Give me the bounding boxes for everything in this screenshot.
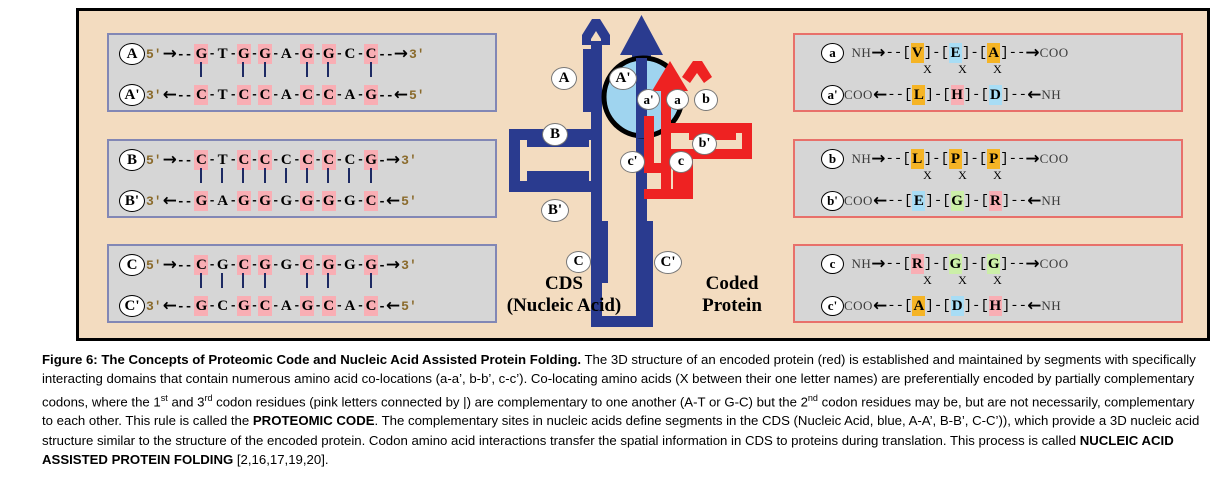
base-letter: C [300, 85, 314, 105]
arrow-left-icon: ← [873, 85, 887, 105]
protein-panel-b: b NH→--[L]-[P]-[P]--→COOXXXb'COO←--[E]-[… [793, 139, 1183, 218]
base-separator: - [336, 88, 343, 102]
leading-dashes: -- [177, 299, 193, 314]
arrow-left-icon: ← [163, 296, 177, 316]
n-terminus-label: NH [1041, 193, 1061, 209]
base-separator: - [336, 47, 343, 61]
bracket-close: ] [1002, 87, 1010, 103]
base-sequence: G-T-G-G-A-G-G-C-C [194, 44, 378, 64]
trailing-dashes: -- [1009, 256, 1026, 272]
bracket-open: [ [902, 256, 910, 272]
residue-letter: L [912, 85, 925, 105]
bond-cell [194, 168, 208, 188]
bond-bar [221, 273, 223, 288]
residue-separator: - [970, 151, 978, 167]
three-prime-label: 3' [401, 153, 417, 168]
residue-sequence: [L]-[H]-[D] [904, 85, 1010, 105]
arrow-right-end-icon: → [394, 44, 408, 64]
nucleic-panel-B: B5'→--C-T-C-C-C-C-C-C-G-→3'--------B'3'←… [107, 139, 497, 218]
bond-cell [364, 168, 378, 188]
bracket-open: [ [980, 298, 988, 314]
diagram-marker-C-prime: C' [654, 251, 682, 274]
bond-bar [242, 62, 244, 77]
base-separator: - [208, 299, 215, 313]
residue-letter: P [987, 149, 1000, 169]
bracket-open: [ [904, 193, 912, 209]
base-separator: - [272, 258, 279, 272]
bracket-close: ] [924, 256, 932, 272]
trailing-dashes: -- [378, 88, 394, 103]
bracket-open: [ [942, 298, 950, 314]
bracket-close: ] [1000, 256, 1008, 272]
bond-cell [300, 168, 314, 188]
base-separator: - [272, 153, 279, 167]
base-separator: - [357, 47, 364, 61]
leading-dashes: -- [886, 45, 903, 61]
base-separator: - [293, 153, 300, 167]
base-separator: - [314, 153, 321, 167]
residue-sequence: [V]-[E]-[A] [902, 43, 1008, 63]
figure-caption: Figure 6: The Concepts of Proteomic Code… [42, 350, 1208, 469]
base-separator: - [251, 88, 258, 102]
base-separator: - [230, 299, 237, 313]
bond-bar [264, 62, 266, 77]
residue-separator: - [972, 193, 980, 209]
residue-sequence: [A]-[D]-[H] [904, 296, 1010, 316]
bond-cell [236, 168, 250, 188]
diagram-marker-C: C [566, 251, 591, 273]
bond-cell [300, 62, 314, 82]
protein-chain-bottom: a'COO←--[L]-[H]-[D]--←NH [795, 82, 1181, 108]
caption-body-6: [2,16,17,19,20]. [233, 452, 328, 467]
base-letter: G [300, 191, 314, 211]
trailing-dashes: -- [378, 47, 394, 62]
protein-caption-line2: Protein [672, 295, 792, 317]
caption-figure-label: Figure 6: The Concepts of Proteomic Code… [42, 352, 581, 367]
arrow-left-end-icon: ← [386, 296, 400, 316]
bracket-close: ] [924, 45, 932, 61]
base-separator: - [251, 153, 258, 167]
chain-label-b: b [821, 149, 844, 169]
cds-caption: CDS (Nucleic Acid) [489, 273, 639, 317]
bond-spacer: - [250, 65, 257, 79]
nucleic-strand-bottom: B'3'←--G-A-G-G-G-G-G-G-C-←5' [109, 188, 495, 214]
n-terminus-label: NH [844, 256, 871, 272]
leading-dashes: -- [886, 151, 903, 167]
bracket-close: ] [924, 151, 932, 167]
base-separator: - [272, 194, 279, 208]
figure-frame: A5'→--G-T-G-G-A-G-G-C-C--→3'--------A'3'… [76, 8, 1210, 341]
base-separator: - [293, 258, 300, 272]
bracket-open: [ [941, 45, 949, 61]
arrow-right-icon: → [163, 150, 177, 170]
base-separator: - [357, 153, 364, 167]
base-separator: - [293, 299, 300, 313]
base-separator: - [336, 153, 343, 167]
co-location-row: XXX [910, 272, 1015, 288]
residue-letter: A [912, 296, 925, 316]
nucleic-strand-bottom: A'3'←--C-T-C-C-A-C-C-A-G--←5' [109, 82, 495, 108]
base-separator: - [336, 194, 343, 208]
trailing-dashes: - [378, 258, 386, 273]
protein-chain-bottom: b'COO←--[E]-[G]-[R]--←NH [795, 188, 1181, 214]
co-location-marker: X [980, 273, 1015, 288]
base-sequence: C-T-C-C-A-C-C-A-G [194, 85, 378, 105]
residue-letter: P [949, 149, 962, 169]
diagram-marker-b-prime: b' [692, 133, 717, 155]
bond-bar [327, 62, 329, 77]
base-separator: - [272, 47, 279, 61]
arrow-right-icon: → [871, 254, 885, 274]
base-separator: - [357, 299, 364, 313]
caption-bold-proteomic-code: PROTEOMIC CODE [253, 413, 375, 428]
c-terminus-label: COO [1040, 151, 1069, 167]
cds-caption-line1: CDS [489, 273, 639, 295]
bond-bar [200, 273, 202, 288]
protein-caption: Coded Protein [672, 273, 792, 317]
trailing-dashes: -- [1009, 45, 1026, 61]
bond-bar [306, 168, 308, 183]
bond-bar [264, 273, 266, 288]
bond-bar [327, 168, 329, 183]
arrow-left-icon: ← [163, 191, 177, 211]
hydrogen-bond-row: -------- [194, 169, 378, 186]
arrow-left-end-icon: ← [386, 191, 400, 211]
bond-cell [258, 168, 272, 188]
bond-cell [194, 273, 208, 293]
bracket-open: [ [979, 256, 987, 272]
bond-cell [279, 168, 293, 188]
residue-separator: - [934, 298, 942, 314]
three-prime-label: 3' [146, 88, 162, 103]
leading-dashes: -- [177, 88, 193, 103]
n-terminus-label: NH [844, 151, 871, 167]
base-separator: - [208, 47, 215, 61]
bond-spacer: - [335, 171, 342, 185]
residue-sequence: [R]-[G]-[G] [902, 254, 1008, 274]
base-separator: - [208, 88, 215, 102]
bond-bar [200, 168, 202, 183]
three-prime-label: 3' [409, 47, 425, 62]
base-letter: C [364, 296, 378, 316]
co-location-marker: X [980, 62, 1015, 77]
co-location-marker: X [945, 62, 980, 77]
base-letter: G [300, 296, 314, 316]
arrow-left-icon: ← [873, 296, 887, 316]
bond-spacer: - [208, 65, 215, 79]
bracket-open: [ [942, 87, 950, 103]
chain-label-c: c [821, 254, 844, 274]
caption-sup-1: st [161, 393, 168, 403]
bond-bar [264, 168, 266, 183]
residue-letter: H [989, 296, 1002, 316]
base-separator: - [314, 47, 321, 61]
bond-spacer: - [293, 171, 300, 185]
strand-label-C-prime: C' [119, 295, 145, 317]
base-separator: - [230, 88, 237, 102]
leading-dashes: -- [177, 153, 193, 168]
bond-cell [236, 62, 250, 82]
residue-letter: D [989, 85, 1002, 105]
n-terminus-label: NH [1041, 298, 1061, 314]
base-separator: - [208, 194, 215, 208]
five-prime-label: 5' [146, 153, 162, 168]
nucleic-panel-C: C5'→--C-G-C-G-G-C-G-G-G-→3'--------C'3'←… [107, 244, 497, 323]
residue-letter: G [949, 254, 962, 274]
hydrogen-bond-row: -------- [194, 63, 378, 80]
base-separator: - [293, 47, 300, 61]
protein-caption-line1: Coded [672, 273, 792, 295]
protein-panel-c: c NH→--[R]-[G]-[G]--→COOXXXc'COO←--[A]-[… [793, 244, 1183, 323]
trailing-dashes: -- [1010, 193, 1027, 209]
base-letter: C [216, 296, 230, 316]
base-letter: T [216, 44, 230, 64]
residue-separator: - [934, 87, 942, 103]
bond-bar [242, 168, 244, 183]
base-letter: A [279, 44, 293, 64]
base-letter: G [279, 255, 293, 275]
bond-bar [221, 168, 223, 183]
strand-label-A-prime: A' [119, 84, 145, 106]
bracket-open: [ [904, 298, 912, 314]
arrow-right-end-icon: → [1025, 149, 1039, 169]
bond-spacer: - [250, 171, 257, 185]
bracket-open: [ [980, 193, 988, 209]
bond-spacer: - [356, 276, 363, 290]
bracket-close: ] [962, 256, 970, 272]
c-terminus-label: COO [844, 298, 873, 314]
chain-label-c-prime: c' [821, 296, 844, 316]
protein-panel-a: a NH→--[V]-[E]-[A]--→COOXXXa'COO←--[L]-[… [793, 33, 1183, 112]
base-letter: G [194, 296, 208, 316]
base-separator: - [314, 194, 321, 208]
base-sequence: G-C-G-C-A-G-C-A-C [194, 296, 378, 316]
diagram-marker-a: a [666, 89, 689, 110]
caption-sup-3: nd [808, 393, 818, 403]
base-letter: C [322, 85, 336, 105]
three-prime-label: 3' [146, 299, 162, 314]
three-prime-label: 3' [146, 194, 162, 209]
base-letter: G [279, 191, 293, 211]
bracket-close: ] [964, 298, 972, 314]
bracket-close: ] [1000, 151, 1008, 167]
leading-dashes: -- [886, 256, 903, 272]
bond-spacer: - [229, 65, 236, 79]
co-location-marker: X [945, 273, 980, 288]
trailing-dashes: -- [1010, 298, 1027, 314]
base-letter: A [216, 191, 230, 211]
base-separator: - [314, 299, 321, 313]
bond-cell [236, 273, 250, 293]
base-separator: - [357, 88, 364, 102]
caption-body-3: codon residues (pink letters connected b… [212, 394, 807, 409]
residue-letter: A [987, 43, 1000, 63]
bracket-close: ] [962, 45, 970, 61]
arrow-left-end-icon: ← [1027, 191, 1041, 211]
bond-cell [300, 273, 314, 293]
bond-spacer: - [229, 276, 236, 290]
nucleic-panel-A: A5'→--G-T-G-G-A-G-G-C-C--→3'--------A'3'… [107, 33, 497, 112]
base-letter: C [258, 85, 272, 105]
leading-dashes: -- [177, 47, 193, 62]
strand-label-B-prime: B' [119, 190, 145, 212]
base-letter: G [343, 191, 357, 211]
bracket-open: [ [941, 151, 949, 167]
bond-spacer: - [314, 171, 321, 185]
five-prime-label: 5' [409, 88, 425, 103]
residue-separator: - [970, 256, 978, 272]
leading-dashes: -- [887, 87, 904, 103]
base-letter: G [194, 191, 208, 211]
bond-cell [364, 273, 378, 293]
co-location-marker: X [945, 168, 980, 183]
arrow-right-icon: → [871, 149, 885, 169]
bond-bar [370, 62, 372, 77]
base-letter: C [258, 296, 272, 316]
arrow-left-icon: ← [163, 85, 177, 105]
n-terminus-label: NH [1041, 87, 1061, 103]
trailing-dashes: - [378, 299, 386, 314]
leading-dashes: -- [177, 194, 193, 209]
bond-bar [348, 168, 350, 183]
arrow-right-icon: → [163, 255, 177, 275]
residue-letter: R [989, 191, 1002, 211]
arrow-right-end-icon: → [1025, 43, 1039, 63]
bracket-close: ] [962, 151, 970, 167]
five-prime-label: 5' [146, 47, 162, 62]
residue-letter: V [911, 43, 924, 63]
bond-spacer: - [272, 171, 279, 185]
residue-letter: D [951, 296, 964, 316]
arrow-right-end-icon: → [386, 255, 400, 275]
bond-spacer: - [208, 171, 215, 185]
base-letter: A [279, 85, 293, 105]
base-letter: C [343, 44, 357, 64]
arrow-left-end-icon: ← [1027, 85, 1041, 105]
chain-label-b-prime: b' [821, 191, 844, 211]
co-location-row: XXX [910, 61, 1015, 77]
bracket-close: ] [925, 193, 933, 209]
bond-spacer: - [314, 276, 321, 290]
base-letter: G [237, 191, 251, 211]
bond-bar [370, 273, 372, 288]
base-letter: G [364, 85, 378, 105]
diagram-marker-A-prime: A' [609, 67, 637, 90]
bond-cell [215, 273, 229, 293]
base-separator: - [293, 194, 300, 208]
arrow-right-end-icon: → [1025, 254, 1039, 274]
co-location-marker: X [910, 273, 945, 288]
bond-bar [285, 168, 287, 183]
bond-spacer: - [356, 171, 363, 185]
base-letter: C [322, 296, 336, 316]
base-separator: - [272, 299, 279, 313]
bracket-close: ] [964, 87, 972, 103]
hydrogen-bond-row: -------- [194, 274, 378, 291]
arrow-right-icon: → [163, 44, 177, 64]
residue-sequence: [L]-[P]-[P] [902, 149, 1008, 169]
bracket-open: [ [980, 87, 988, 103]
base-separator: - [230, 153, 237, 167]
base-letter: G [237, 296, 251, 316]
base-separator: - [314, 258, 321, 272]
residue-separator: - [932, 45, 940, 61]
bracket-close: ] [1002, 298, 1010, 314]
bond-spacer: - [250, 276, 257, 290]
five-prime-label: 5' [401, 194, 417, 209]
residue-separator: - [970, 45, 978, 61]
diagram-marker-c-prime: c' [620, 151, 645, 173]
diagram-marker-A: A [551, 67, 577, 90]
residue-separator: - [932, 151, 940, 167]
arrow-left-end-icon: ← [394, 85, 408, 105]
bond-spacer: - [272, 276, 279, 290]
residue-letter: R [911, 254, 924, 274]
diagram-marker-B: B [542, 123, 568, 146]
strand-label-C: C [119, 254, 145, 276]
bond-spacer: - [293, 65, 300, 79]
base-letter: A [279, 296, 293, 316]
bracket-open: [ [979, 45, 987, 61]
leading-dashes: -- [177, 258, 193, 273]
bond-cell [321, 273, 335, 293]
five-prime-label: 5' [146, 258, 162, 273]
bracket-open: [ [942, 193, 950, 209]
arrow-left-icon: ← [873, 191, 887, 211]
base-separator: - [230, 258, 237, 272]
base-separator: - [251, 299, 258, 313]
protein-chain-bottom: c'COO←--[A]-[D]-[H]--←NH [795, 293, 1181, 319]
base-separator: - [230, 47, 237, 61]
base-separator: - [336, 258, 343, 272]
leading-dashes: -- [887, 298, 904, 314]
strand-label-B: B [119, 149, 145, 171]
diagram-marker-B-prime: B' [541, 199, 569, 222]
c-terminus-label: COO [1040, 45, 1069, 61]
residue-letter: L [911, 149, 924, 169]
base-separator: - [272, 88, 279, 102]
bond-cell [215, 168, 229, 188]
bracket-open: [ [941, 256, 949, 272]
base-letter: A [343, 85, 357, 105]
bond-cell [364, 62, 378, 82]
bond-bar [327, 273, 329, 288]
bracket-close: ] [925, 87, 933, 103]
residue-separator: - [972, 87, 980, 103]
bracket-close: ] [964, 193, 972, 209]
bracket-open: [ [904, 87, 912, 103]
trailing-dashes: - [378, 194, 386, 209]
bond-spacer: - [229, 171, 236, 185]
base-letter: G [322, 191, 336, 211]
base-separator: - [336, 299, 343, 313]
base-letter: C [364, 191, 378, 211]
base-separator: - [357, 194, 364, 208]
bond-cell [258, 62, 272, 82]
base-letter: G [343, 255, 357, 275]
bond-cell [321, 62, 335, 82]
base-letter: A [343, 296, 357, 316]
bracket-open: [ [902, 45, 910, 61]
residue-letter: E [912, 191, 925, 211]
co-location-marker: X [910, 168, 945, 183]
bond-cell [342, 168, 356, 188]
c-terminus-label: COO [1040, 256, 1069, 272]
arrow-left-end-icon: ← [1027, 296, 1041, 316]
cds-caption-line2: (Nucleic Acid) [489, 295, 639, 317]
bond-spacer: - [208, 276, 215, 290]
bracket-close: ] [1000, 45, 1008, 61]
